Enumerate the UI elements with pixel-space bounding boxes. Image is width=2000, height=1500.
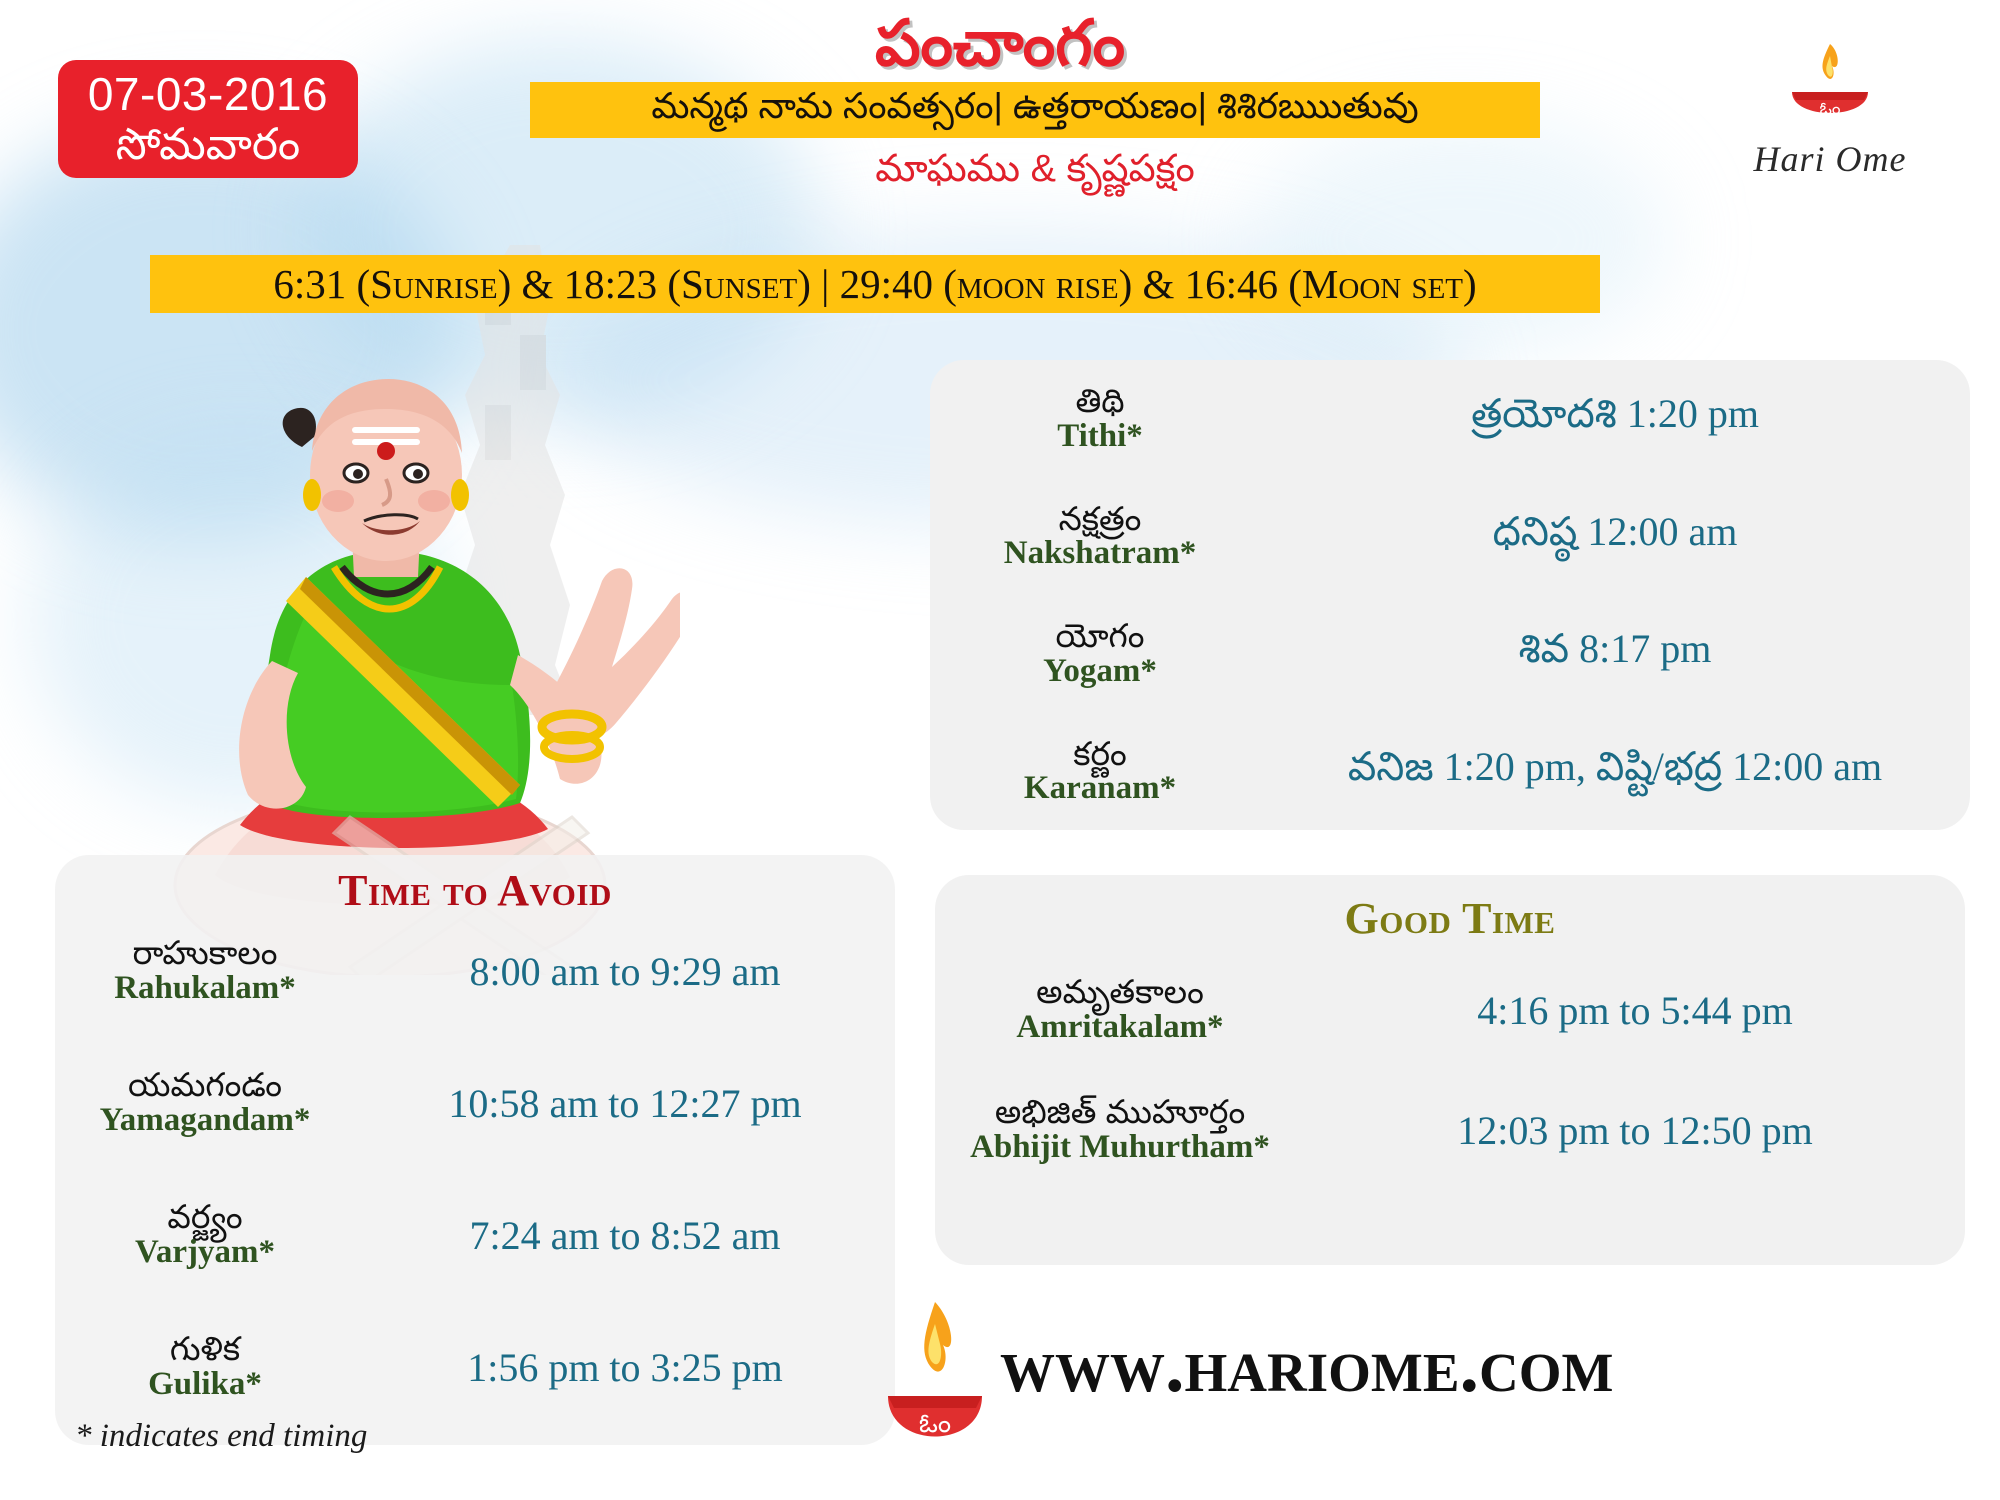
astro-label-karanam: కర్ణం Karanam* [930, 736, 1270, 807]
avoid-label-te: గుళిక [170, 1331, 240, 1367]
avoid-value-rahukalam: 8:00 am to 9:29 am [355, 948, 895, 995]
svg-text:ఓం: ఓం [919, 1408, 951, 1438]
avoid-label-te: రాహుకాలం [133, 935, 278, 971]
avoid-label-yamagandam: యమగండం Yamagandam* [55, 1067, 355, 1138]
avoid-row-gulika: గుళిక Gulika* 1:56 pm to 3:25 pm [55, 1301, 895, 1433]
samvatsaram-band: మన్మథ నామ సంవత్సరం| ఉత్తరాయణం| శిశిరఋుతు… [530, 82, 1540, 138]
avoid-row-yamagandam: యమగండం Yamagandam* 10:58 am to 12:27 pm [55, 1037, 895, 1169]
avoid-value-gulika: 1:56 pm to 3:25 pm [355, 1344, 895, 1391]
good-row-abhijit: అభిజిత్ ముహూర్తం Abhijit Muhurtham* 12:0… [935, 1070, 1965, 1190]
astro-label-en: Yogam* [1043, 654, 1157, 690]
avoid-label-te: యమగండం [128, 1067, 282, 1103]
avoid-label-gulika: గుళిక Gulika* [55, 1331, 355, 1402]
avoid-label-rahukalam: రాహుకాలం Rahukalam* [55, 935, 355, 1006]
astro-value-yogam: శివ 8:17 pm [1270, 625, 1970, 682]
astro-label-en: Karanam* [1024, 771, 1176, 807]
avoid-label-en: Rahukalam* [114, 971, 296, 1007]
astro-rows: తిథి Tithi* త్రయోదశి 1:20 pm నక్షత్రం Na… [930, 360, 1970, 830]
avoid-rows: రాహుకాలం Rahukalam* 8:00 am to 9:29 am య… [55, 905, 895, 1450]
avoid-label-en: Gulika* [148, 1367, 262, 1403]
date-value: 07-03-2016 [88, 69, 328, 121]
good-label-abhijit: అభిజిత్ ముహూర్తం Abhijit Muhurtham* [935, 1094, 1305, 1165]
good-row-amritakalam: అమృతకాలం Amritakalam* 4:16 pm to 5:44 pm [935, 950, 1965, 1070]
footnote: * indicates end timing [75, 1418, 367, 1455]
astro-label-te: కర్ణం [1073, 736, 1127, 772]
good-label-te: అమృతకాలం [1036, 974, 1204, 1010]
astro-label-te: యోగం [1055, 618, 1144, 654]
avoid-row-varjyam: వర్జ్యం Varjyam* 7:24 am to 8:52 am [55, 1169, 895, 1301]
astro-row-karanam: కర్ణం Karanam* వనిజ 1:20 pm, విష్టి/భద్ర… [930, 713, 1970, 831]
masam-paksham-line: మాఘము & కృష్ణపక్షం [530, 148, 1540, 200]
diya-lamp-icon: ఓం [1770, 40, 1890, 136]
good-label-en: Abhijit Muhurtham* [970, 1130, 1270, 1166]
logo-text: Hari Ome [1754, 138, 1907, 180]
avoid-value-varjyam: 7:24 am to 8:52 am [355, 1212, 895, 1259]
avoid-row-rahukalam: రాహుకాలం Rahukalam* 8:00 am to 9:29 am [55, 905, 895, 1037]
avoid-value-yamagandam: 10:58 am to 12:27 pm [355, 1080, 895, 1127]
astro-label-te: తిథి [1075, 383, 1124, 419]
astro-label-nakshatram: నక్షత్రం Nakshatram* [930, 501, 1270, 572]
astro-label-tithi: తిథి Tithi* [930, 383, 1270, 454]
good-label-amritakalam: అమృతకాలం Amritakalam* [935, 974, 1305, 1045]
good-label-en: Amritakalam* [1016, 1010, 1223, 1046]
astro-value-nakshatram: ధనిష్ఠ 12:00 am [1270, 508, 1970, 565]
good-time-heading: Good Time [935, 885, 1965, 944]
diya-lamp-footer-icon: ఓం [880, 1300, 990, 1460]
avoid-label-varjyam: వర్జ్యం Varjyam* [55, 1199, 355, 1270]
astro-row-yogam: యోగం Yogam* శివ 8:17 pm [930, 595, 1970, 713]
website-url[interactable]: www.hariome.com [1000, 1320, 1613, 1410]
astro-label-te: నక్షత్రం [1059, 501, 1142, 537]
good-rows: అమృతకాలం Amritakalam* 4:16 pm to 5:44 pm… [935, 950, 1965, 1250]
avoid-label-en: Varjyam* [135, 1235, 275, 1271]
svg-text:ఓం: ఓం [1819, 99, 1840, 118]
sun-moon-band: 6:31 (Sunrise) & 18:23 (Sunset) | 29:40 … [150, 255, 1600, 313]
good-label-te: అభిజిత్ ముహూర్తం [995, 1094, 1245, 1130]
astro-row-nakshatram: నక్షత్రం Nakshatram* ధనిష్ఠ 12:00 am [930, 478, 1970, 596]
date-badge: 07-03-2016 సోమవారం [58, 60, 358, 178]
weekday-value: సోమవారం [116, 120, 301, 169]
brand-logo: ఓం Hari Ome [1700, 40, 1960, 180]
astro-row-tithi: తిథి Tithi* త్రయోదశి 1:20 pm [930, 360, 1970, 478]
avoid-label-te: వర్జ్యం [167, 1199, 242, 1235]
astro-label-en: Nakshatram* [1004, 536, 1197, 572]
astro-value-tithi: త్రయోదశి 1:20 pm [1270, 390, 1970, 447]
astro-label-yogam: యోగం Yogam* [930, 618, 1270, 689]
avoid-label-en: Yamagandam* [100, 1103, 311, 1139]
good-value-abhijit: 12:03 pm to 12:50 pm [1305, 1107, 1965, 1154]
astro-label-en: Tithi* [1057, 419, 1143, 455]
astro-value-karanam: వనిజ 1:20 pm, విష్టి/భద్ర 12:00 am [1270, 743, 1970, 800]
good-value-amritakalam: 4:16 pm to 5:44 pm [1305, 987, 1965, 1034]
